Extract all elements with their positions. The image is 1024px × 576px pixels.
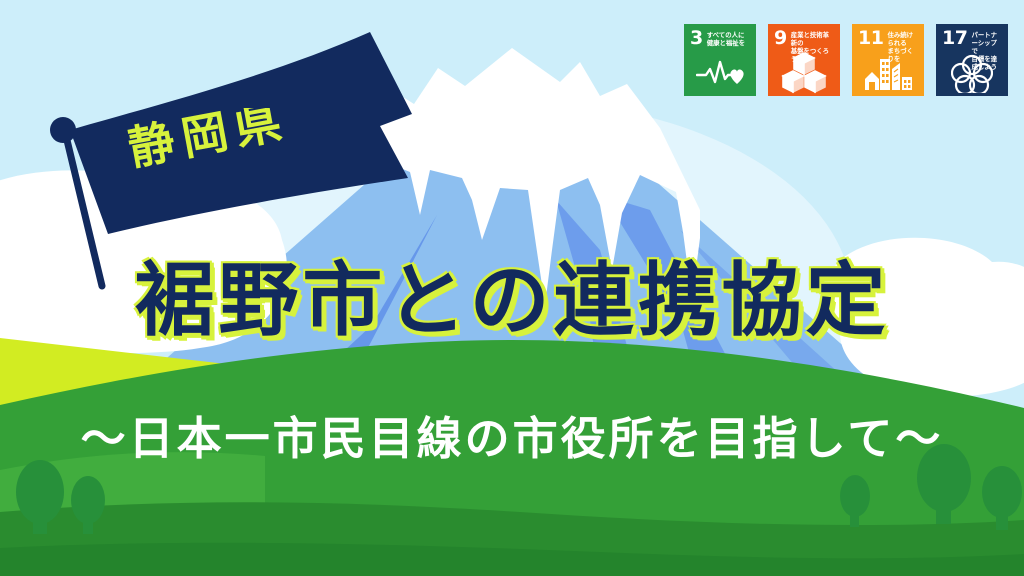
heartbeat-icon xyxy=(684,53,756,93)
sdg-badge-17[interactable]: 17パートナーシップで 目標を達成しよう xyxy=(936,24,1008,96)
sdg-number: 11 xyxy=(858,30,883,46)
page-subtitle: 〜日本一市民目線の市役所を目指して〜 xyxy=(0,402,1024,467)
sdg-number: 17 xyxy=(942,30,967,46)
sdg-badge-9[interactable]: 9産業と技術革新の 基盤をつくろう xyxy=(768,24,840,96)
page-title: 裾野市との連携協定 xyxy=(0,236,1024,352)
sdg-number: 9 xyxy=(774,30,787,46)
cityscape-icon xyxy=(852,53,924,93)
sdg-goal-text: すべての人に 健康と福祉を xyxy=(707,30,745,47)
sdg-badge-11[interactable]: 11住み続けられる まちづくりを xyxy=(852,24,924,96)
sdg-number: 3 xyxy=(690,30,703,46)
sdg-badge-header: 3すべての人に 健康と福祉を xyxy=(684,24,756,47)
sdg-badge-row: 3すべての人に 健康と福祉を9産業と技術革新の 基盤をつくろう11住み続けられる… xyxy=(684,24,1008,96)
rings-icon xyxy=(936,53,1008,93)
poster-canvas: 静岡県 裾野市との連携協定 〜日本一市民目線の市役所を目指して〜 3すべての人に… xyxy=(0,0,1024,576)
cubes-icon xyxy=(768,53,840,93)
sdg-badge-3[interactable]: 3すべての人に 健康と福祉を xyxy=(684,24,756,96)
flag-label: 静岡県 xyxy=(124,108,293,176)
